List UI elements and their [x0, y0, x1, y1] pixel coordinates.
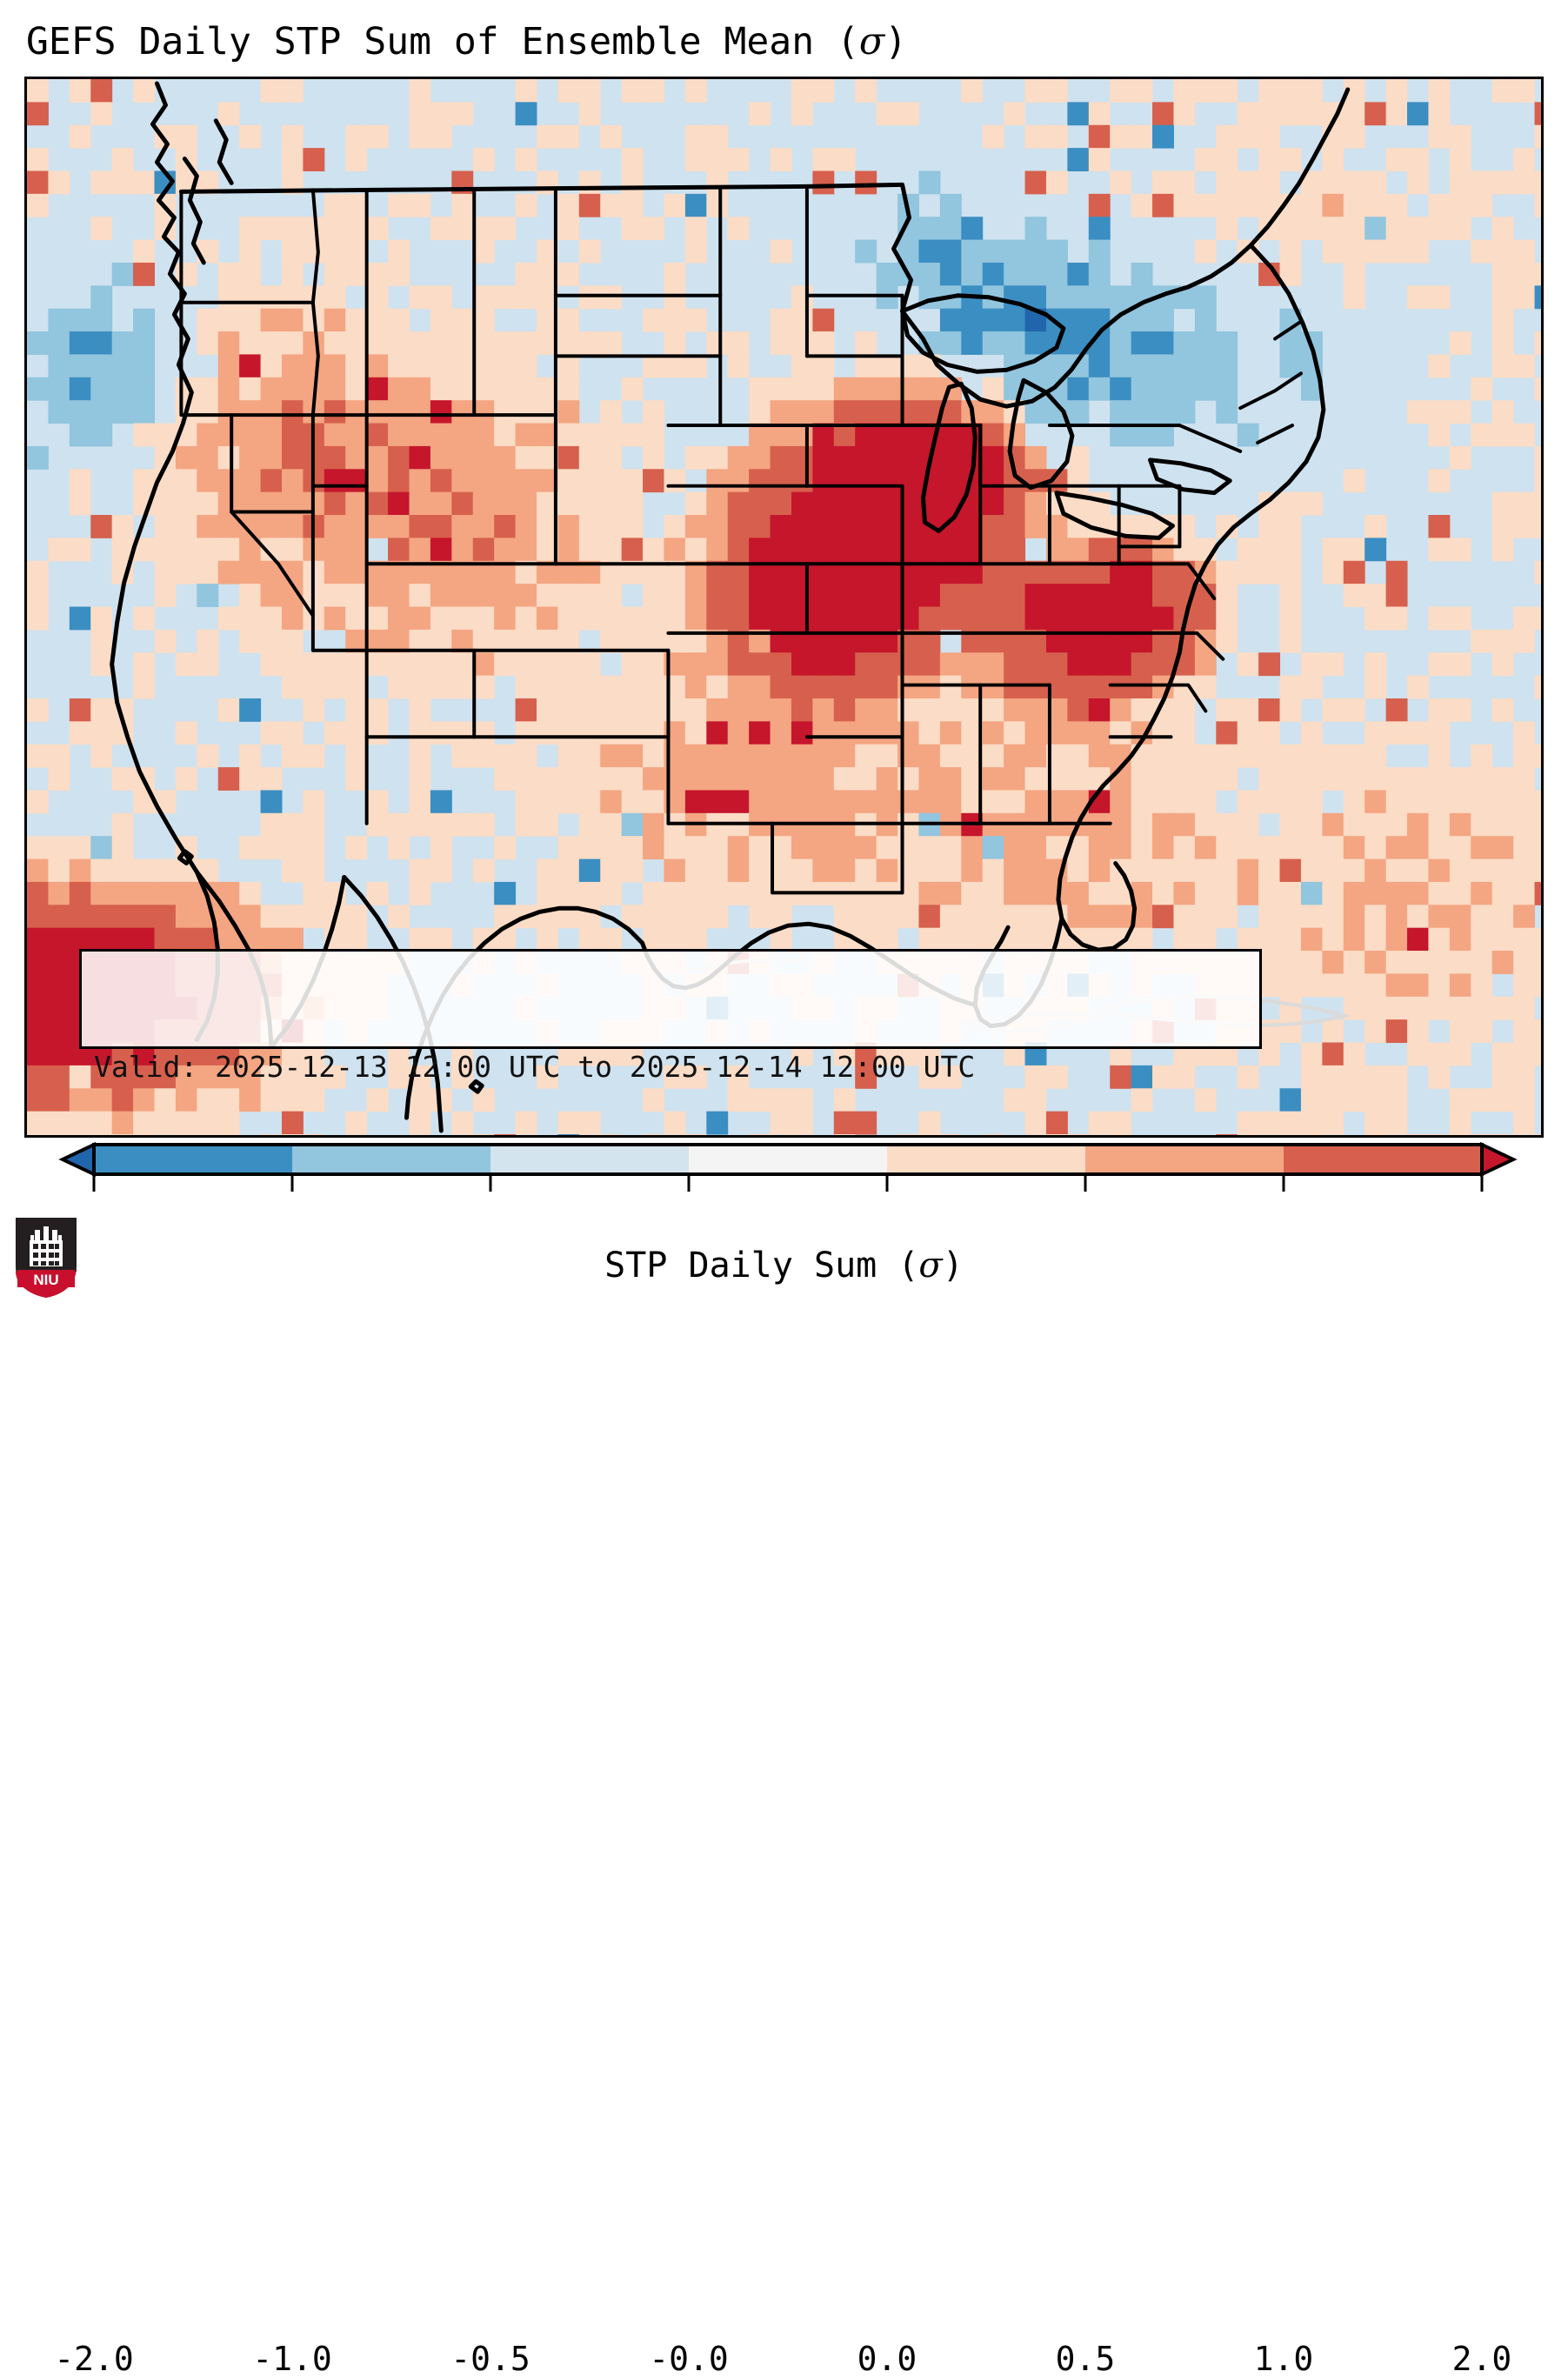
heatmap-cell [1216, 354, 1238, 377]
heatmap-cell [664, 928, 685, 952]
heatmap-cell [728, 652, 750, 676]
heatmap-cell [112, 767, 134, 791]
heatmap-cell [1386, 217, 1408, 240]
heatmap-cell [1258, 928, 1280, 952]
heatmap-cell [430, 377, 452, 401]
heatmap-cell [218, 561, 240, 584]
heatmap-cell [409, 721, 430, 745]
heatmap-cell [749, 607, 771, 631]
heatmap-cell [557, 767, 579, 791]
heatmap-cell [855, 400, 877, 424]
heatmap-cell [1386, 561, 1408, 584]
heatmap-cell [1173, 79, 1195, 103]
heatmap-cell [812, 607, 834, 631]
heatmap-cell [1110, 721, 1131, 745]
heatmap-cell [1046, 170, 1068, 194]
colorbar-tick-label: -1.0 [252, 2340, 332, 2378]
heatmap-cell [1067, 148, 1089, 171]
heatmap-cell [1471, 813, 1492, 837]
heatmap-cell [664, 905, 685, 928]
heatmap-cell [918, 836, 940, 859]
heatmap-cell [855, 170, 877, 194]
heatmap-cell [218, 263, 240, 286]
heatmap-cell [1089, 538, 1111, 561]
heatmap-cell [897, 446, 919, 470]
heatmap-cell [1407, 676, 1429, 699]
heatmap-cell [516, 767, 537, 791]
heatmap-cell [1407, 102, 1429, 125]
heatmap-cell [70, 354, 91, 377]
heatmap-cell [961, 263, 983, 286]
heatmap-cell [557, 79, 579, 103]
heatmap-cell [1513, 836, 1535, 859]
heatmap-cell [282, 331, 304, 355]
heatmap-cell [1216, 882, 1238, 905]
heatmap-cell [685, 836, 707, 859]
heatmap-cell [261, 400, 283, 424]
heatmap-cell [1322, 1043, 1344, 1066]
heatmap-cell [1364, 928, 1386, 952]
heatmap-cell [877, 721, 898, 745]
heatmap-cell [1407, 859, 1429, 883]
heatmap-cell [197, 630, 218, 653]
heatmap-cell [771, 492, 792, 516]
heatmap-cell [877, 377, 898, 401]
heatmap-cell [1216, 745, 1238, 768]
heatmap-cell [1386, 1112, 1408, 1135]
heatmap-cell [324, 309, 346, 332]
heatmap-cell [303, 676, 324, 699]
heatmap-cell [1471, 630, 1492, 653]
heatmap-cell [1110, 676, 1131, 699]
heatmap-cell [812, 469, 834, 492]
heatmap-cell [345, 538, 367, 561]
map-plot-area[interactable]: Valid: 2025-12-13 12:00 UTC to 2025-12-1… [24, 77, 1544, 1138]
heatmap-cell [1450, 836, 1471, 859]
heatmap-cell [1301, 1134, 1323, 1135]
heatmap-cell [1216, 836, 1238, 859]
heatmap-cell [1025, 721, 1047, 745]
heatmap-cell [133, 424, 155, 447]
heatmap-cell [1407, 148, 1429, 171]
heatmap-cell [1513, 354, 1535, 377]
heatmap-cell [600, 676, 622, 699]
heatmap-cell [685, 745, 707, 768]
heatmap-cell [728, 217, 750, 240]
heatmap-cell [579, 882, 601, 905]
heatmap-cell [473, 492, 495, 516]
heatmap-cell [791, 79, 813, 103]
heatmap-cell [494, 515, 516, 538]
heatmap-cell [579, 721, 601, 745]
heatmap-cell [261, 836, 283, 859]
heatmap-cell [367, 309, 389, 332]
heatmap-cell [1258, 745, 1280, 768]
heatmap-cell [239, 905, 261, 928]
heatmap-cell [855, 790, 877, 813]
heatmap-cell [622, 767, 644, 791]
heatmap-cell [1067, 607, 1089, 631]
heatmap-cell [983, 745, 1004, 768]
heatmap-cell [1216, 377, 1238, 401]
heatmap-cell [1364, 951, 1386, 974]
heatmap-cell [282, 745, 304, 768]
heatmap-cell [1238, 859, 1259, 883]
heatmap-cell [1535, 469, 1541, 492]
heatmap-cell [1089, 377, 1111, 401]
heatmap-cell [1471, 790, 1492, 813]
heatmap-cell [70, 1065, 91, 1089]
heatmap-cell [430, 309, 452, 332]
heatmap-cell [1322, 973, 1344, 997]
heatmap-cell [855, 721, 877, 745]
heatmap-cell [282, 309, 304, 332]
heatmap-cell [1152, 721, 1174, 745]
heatmap-cell [154, 928, 176, 952]
heatmap-cell [367, 125, 389, 149]
heatmap-cell [1173, 745, 1195, 768]
heatmap-cell [239, 354, 261, 377]
heatmap-cell [749, 584, 771, 607]
heatmap-cell [1322, 1065, 1344, 1089]
heatmap-cell [1428, 125, 1450, 149]
heatmap-cell [1195, 790, 1217, 813]
heatmap-cell [70, 331, 91, 355]
heatmap-cell [1152, 538, 1174, 561]
heatmap-cell [1407, 721, 1429, 745]
heatmap-cell [1004, 882, 1025, 905]
heatmap-cell [27, 1112, 49, 1135]
heatmap-cell [409, 859, 430, 883]
heatmap-cell [1535, 170, 1541, 194]
heatmap-cell [771, 377, 792, 401]
heatmap-cell [537, 928, 558, 952]
heatmap-cell [1110, 790, 1131, 813]
heatmap-cell [791, 515, 813, 538]
heatmap-cell [749, 836, 771, 859]
heatmap-cell [918, 652, 940, 676]
heatmap-cell [197, 538, 218, 561]
heatmap-cell [1152, 745, 1174, 768]
heatmap-cell [70, 859, 91, 883]
heatmap-cell [27, 1134, 49, 1135]
heatmap-cell [261, 79, 283, 103]
heatmap-cell [1386, 905, 1408, 928]
heatmap-cell [1025, 217, 1047, 240]
heatmap-cell [579, 240, 601, 264]
heatmap-cell [1535, 836, 1541, 859]
heatmap-cell [1173, 790, 1195, 813]
heatmap-cell [1152, 790, 1174, 813]
heatmap-cell [1301, 652, 1323, 676]
heatmap-cell [70, 309, 91, 332]
heatmap-cell [27, 928, 49, 952]
heatmap-cell [112, 170, 134, 194]
heatmap-cell [70, 1112, 91, 1135]
heatmap-cell [430, 538, 452, 561]
heatmap-cell [855, 492, 877, 516]
heatmap-cell [1258, 148, 1280, 171]
heatmap-cell [303, 859, 324, 883]
heatmap-cell [1301, 217, 1323, 240]
heatmap-cell [664, 309, 685, 332]
heatmap-cell [388, 400, 410, 424]
heatmap-cell [771, 652, 792, 676]
heatmap-cell [1535, 745, 1541, 768]
heatmap-cell [791, 721, 813, 745]
heatmap-cell [961, 652, 983, 676]
heatmap-cell [855, 377, 877, 401]
heatmap-cell [622, 607, 644, 631]
heatmap-cell [579, 194, 601, 217]
heatmap-cell [1216, 859, 1238, 883]
heatmap-cell [1450, 1112, 1471, 1135]
heatmap-cell [239, 882, 261, 905]
heatmap-cell [1046, 607, 1068, 631]
heatmap-cell [1407, 170, 1429, 194]
heatmap-cell [1428, 767, 1450, 791]
heatmap-cell [494, 331, 516, 355]
heatmap-cell [1322, 652, 1344, 676]
heatmap-cell [303, 836, 324, 859]
heatmap-cell [261, 607, 283, 631]
heatmap-cell [834, 859, 856, 883]
heatmap-cell [1216, 331, 1238, 355]
heatmap-cell [516, 813, 537, 837]
heatmap-cell [1238, 102, 1259, 125]
heatmap-cell [239, 217, 261, 240]
heatmap-cell [197, 584, 218, 607]
heatmap-cell [940, 584, 962, 607]
heatmap-cell [983, 882, 1004, 905]
heatmap-cell [1067, 882, 1089, 905]
heatmap-cell [90, 859, 112, 883]
heatmap-cell [1428, 652, 1450, 676]
heatmap-cell [1238, 561, 1259, 584]
heatmap-cell [771, 331, 792, 355]
heatmap-cell [749, 515, 771, 538]
heatmap-cell [940, 309, 962, 332]
heatmap-cell [1450, 997, 1471, 1020]
heatmap-cell [282, 630, 304, 653]
heatmap-cell [516, 331, 537, 355]
heatmap-cell [918, 882, 940, 905]
heatmap-cell [451, 745, 473, 768]
heatmap-cell [1025, 859, 1047, 883]
heatmap-cell [345, 492, 367, 516]
heatmap-cell [1195, 836, 1217, 859]
heatmap-cell [1322, 148, 1344, 171]
heatmap-cell [983, 859, 1004, 883]
heatmap-cell [367, 813, 389, 837]
heatmap-cell [1258, 125, 1280, 149]
heatmap-cell [473, 148, 495, 171]
heatmap-cell [473, 331, 495, 355]
heatmap-cell [918, 217, 940, 240]
heatmap-cell [579, 813, 601, 837]
heatmap-cell [494, 469, 516, 492]
heatmap-cell [345, 905, 367, 928]
heatmap-cell [324, 377, 346, 401]
heatmap-cell [600, 538, 622, 561]
heatmap-cell [706, 882, 728, 905]
heatmap-cell [1364, 1019, 1386, 1043]
heatmap-cell [1513, 997, 1535, 1020]
heatmap-cell [112, 354, 134, 377]
heatmap-cell [473, 424, 495, 447]
heatmap-cell [1535, 1019, 1541, 1043]
colorbar-tick-label: -0.5 [450, 2340, 530, 2378]
heatmap-cell [218, 698, 240, 722]
heatmap-cell [1131, 584, 1153, 607]
heatmap-cell [1322, 905, 1344, 928]
heatmap-cell [579, 538, 601, 561]
heatmap-cell [983, 584, 1004, 607]
heatmap-cell [1450, 1019, 1471, 1043]
heatmap-cell [812, 354, 834, 377]
heatmap-cell [1280, 767, 1302, 791]
heatmap-cell [771, 698, 792, 722]
heatmap-cell [1195, 882, 1217, 905]
heatmap-cell [154, 859, 176, 883]
heatmap-cell [239, 607, 261, 631]
heatmap-cell [1280, 1134, 1302, 1135]
heatmap-cell [1025, 79, 1047, 103]
heatmap-cell [537, 721, 558, 745]
heatmap-cell [430, 354, 452, 377]
heatmap-cell [1492, 538, 1514, 561]
heatmap-cell [834, 836, 856, 859]
heatmap-cell [1216, 767, 1238, 791]
heatmap-cell [1513, 1043, 1535, 1066]
heatmap-cell [918, 790, 940, 813]
heatmap-cell [367, 217, 389, 240]
heatmap-cell [791, 309, 813, 332]
heatmap-cell [728, 767, 750, 791]
heatmap-cell [451, 424, 473, 447]
heatmap-cell [1386, 997, 1408, 1020]
heatmap-cell [1471, 928, 1492, 952]
heatmap-cell [1216, 721, 1238, 745]
heatmap-cell [834, 515, 856, 538]
heatmap-cell [622, 377, 644, 401]
heatmap-cell [345, 767, 367, 791]
heatmap-cell [1364, 905, 1386, 928]
heatmap-cell [303, 240, 324, 264]
colorbar[interactable]: -2.0-1.0-0.5-0.00.00.51.02.0 [0, 1139, 1568, 1226]
heatmap-cell [1089, 652, 1111, 676]
heatmap-cell [1471, 767, 1492, 791]
heatmap-cell [218, 424, 240, 447]
heatmap-cell [473, 240, 495, 264]
heatmap-cell [557, 652, 579, 676]
heatmap-cell [430, 400, 452, 424]
heatmap-cell [1258, 1112, 1280, 1135]
heatmap-cell [48, 400, 70, 424]
heatmap-cell [367, 354, 389, 377]
heatmap-cell [940, 790, 962, 813]
heatmap-cell [239, 309, 261, 332]
heatmap-cell [70, 1134, 91, 1135]
heatmap-cell [728, 676, 750, 699]
heatmap-cell [473, 859, 495, 883]
heatmap-cell [1110, 79, 1131, 103]
heatmap-cell [961, 836, 983, 859]
heatmap-cell [282, 79, 304, 103]
heatmap-cell [1386, 79, 1408, 103]
heatmap-cell [579, 767, 601, 791]
heatmap-cell [90, 102, 112, 125]
heatmap-cell [600, 836, 622, 859]
heatmap-cell [451, 217, 473, 240]
heatmap-cell [557, 492, 579, 516]
heatmap-cell [1344, 217, 1365, 240]
heatmap-cell [451, 102, 473, 125]
heatmap-cell [791, 400, 813, 424]
heatmap-cell [728, 698, 750, 722]
heatmap-cell [1173, 698, 1195, 722]
heatmap-cell [1492, 997, 1514, 1020]
heatmap-cell [1513, 148, 1535, 171]
heatmap-cell [812, 836, 834, 859]
heatmap-cell [388, 377, 410, 401]
heatmap-cell [345, 836, 367, 859]
heatmap-cell [643, 882, 664, 905]
heatmap-cell [855, 331, 877, 355]
colorbar-tick-label: -2.0 [54, 2340, 134, 2378]
heatmap-cell [1407, 905, 1429, 928]
heatmap-cell [791, 859, 813, 883]
heatmap-cell [1492, 424, 1514, 447]
heatmap-cell [1025, 767, 1047, 791]
heatmap-cell [1110, 813, 1131, 837]
heatmap-cell [706, 721, 728, 745]
heatmap-cell [1301, 745, 1323, 768]
heatmap-cell [1513, 630, 1535, 653]
heatmap-cell [1067, 263, 1089, 286]
heatmap-cell [430, 584, 452, 607]
heatmap-cell [1450, 148, 1471, 171]
heatmap-cell [1535, 928, 1541, 952]
heatmap-cell [1004, 607, 1025, 631]
heatmap-cell [1344, 102, 1365, 125]
heatmap-cell [90, 698, 112, 722]
heatmap-cell [494, 492, 516, 516]
heatmap-cell [1025, 584, 1047, 607]
heatmap-cell [643, 309, 664, 332]
heatmap-cell [1344, 973, 1365, 997]
heatmap-cell [940, 745, 962, 768]
heatmap-cell [1280, 905, 1302, 928]
heatmap-cell [48, 331, 70, 355]
heatmap-cell [324, 469, 346, 492]
heatmap-cell [90, 836, 112, 859]
heatmap-cell [834, 607, 856, 631]
heatmap-cell [1238, 652, 1259, 676]
heatmap-cell [1364, 240, 1386, 264]
heatmap-cell [643, 400, 664, 424]
heatmap-cell [983, 790, 1004, 813]
heatmap-cell [749, 698, 771, 722]
heatmap-cell [345, 607, 367, 631]
heatmap-cell [855, 240, 877, 264]
heatmap-cell [1280, 997, 1302, 1020]
heatmap-cell [600, 400, 622, 424]
heatmap-cell [516, 377, 537, 401]
heatmap-cell [1513, 1019, 1535, 1043]
heatmap-cell [154, 630, 176, 653]
heatmap-cell [1280, 102, 1302, 125]
